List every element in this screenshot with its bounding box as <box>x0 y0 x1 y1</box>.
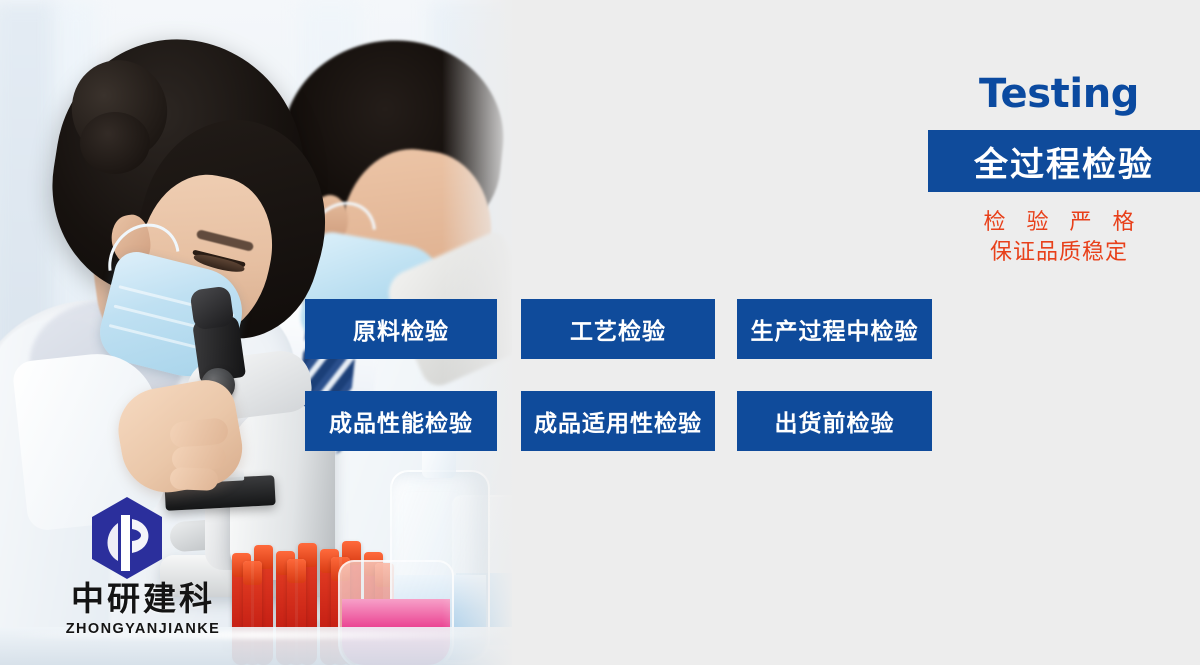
company-logo: 中研建科 ZHONGYANJIANKE <box>58 495 228 640</box>
slide-canvas: 中研建科 ZHONGYANJIANKE Testing 全过程检验 检 验 严 … <box>0 0 1200 665</box>
microscope-eyepiece <box>189 285 234 330</box>
tag-pre-shipment-inspection[interactable]: 出货前检验 <box>737 391 932 451</box>
title-banner: 全过程检验 <box>928 130 1200 192</box>
hexagon-monogram-icon <box>88 495 166 581</box>
slogan-line-1: 检 验 严 格 <box>928 208 1190 238</box>
tag-finished-suitability-inspection[interactable]: 成品适用性检验 <box>521 391 715 451</box>
tag-raw-material-inspection[interactable]: 原料检验 <box>305 299 497 359</box>
tube-cap <box>243 561 262 585</box>
slogan-line-2: 保证品质稳定 <box>928 238 1190 268</box>
finger <box>170 467 219 491</box>
logo-chinese-name: 中研建科 <box>58 581 228 618</box>
logo-pinyin: ZHONGYANJIANKE <box>58 621 228 637</box>
tag-in-production-inspection[interactable]: 生产过程中检验 <box>737 299 932 359</box>
eyebrow-heading: Testing <box>928 74 1190 114</box>
tube-cap <box>287 559 306 583</box>
slogan: 检 验 严 格 保证品质稳定 <box>928 208 1190 267</box>
page-title: 全过程检验 <box>974 137 1154 186</box>
tag-process-inspection[interactable]: 工艺检验 <box>521 299 715 359</box>
tag-finished-performance-inspection[interactable]: 成品性能检验 <box>305 391 497 451</box>
female-hair-bun-lower <box>80 112 150 174</box>
